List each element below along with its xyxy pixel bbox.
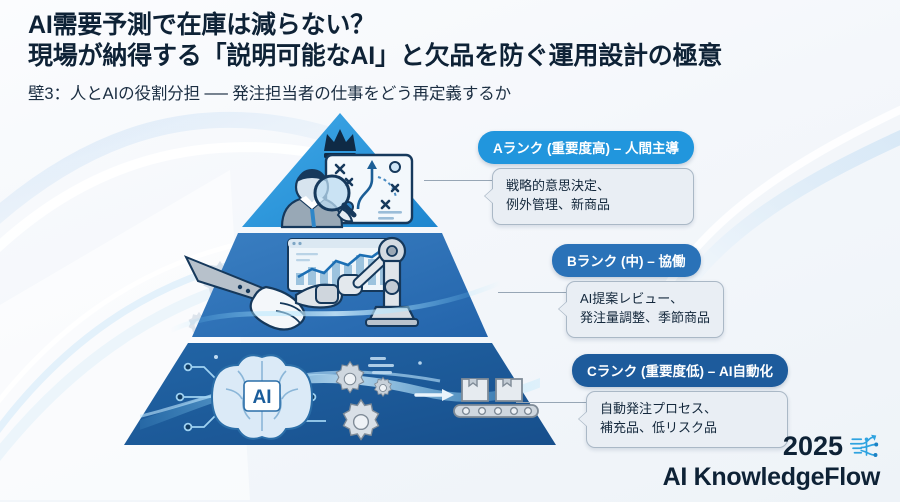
pyramid-tier-c: AI	[120, 343, 560, 445]
network-flow-icon	[850, 432, 880, 460]
page-title-line-2: 現場が納得する「説明可能なAI」と欠品を防ぐ運用設計の極意	[28, 41, 868, 72]
detail-line-2: 例外管理、新商品	[506, 196, 680, 215]
header: AI需要予測で在庫は減らない？ 現場が納得する「説明可能なAI」と欠品を防ぐ運用…	[28, 10, 868, 104]
callout-rank-a: Aランク (重要度高) – 人間主導 戦略的意思決定、 例外管理、新商品	[478, 131, 694, 225]
detail-line-2: 発注量調整、季節商品	[580, 309, 710, 328]
pyramid-tier-a	[242, 113, 438, 227]
page-title-line-1: AI需要予測で在庫は減らない？	[28, 10, 868, 41]
brand-year-row: 2025	[663, 432, 880, 460]
detail-box-rank-a: 戦略的意思決定、 例外管理、新商品	[492, 168, 694, 225]
callout-rank-b: Bランク (中) – 協働 AI提案レビュー、 発注量調整、季節商品	[552, 244, 724, 338]
badge-rank-b[interactable]: Bランク (中) – 協働	[552, 244, 701, 277]
detail-line-1: AI提案レビュー、	[580, 290, 710, 309]
badge-rank-c[interactable]: Cランク (重要度低) – AI自動化	[572, 354, 788, 387]
detail-line-1: 自動発注プロセス、	[600, 400, 774, 419]
page-subtitle: 壁3：人とAIの役割分担 ── 発注担当者の仕事をどう再定義するか	[28, 80, 868, 104]
brand-name: AI KnowledgeFlow	[663, 463, 880, 492]
detail-box-rank-b: AI提案レビュー、 発注量調整、季節商品	[566, 281, 724, 338]
badge-rank-a[interactable]: Aランク (重要度高) – 人間主導	[478, 131, 694, 164]
brand-footer: 2025 AI KnowledgeFlow	[663, 432, 880, 492]
detail-line-1: 戦略的意思決定、	[506, 177, 680, 196]
brand-year: 2025	[783, 433, 843, 460]
pyramid-tier-b	[170, 233, 500, 337]
brain-label: AI	[253, 387, 272, 408]
ai-brain-icon: AI	[212, 355, 312, 439]
